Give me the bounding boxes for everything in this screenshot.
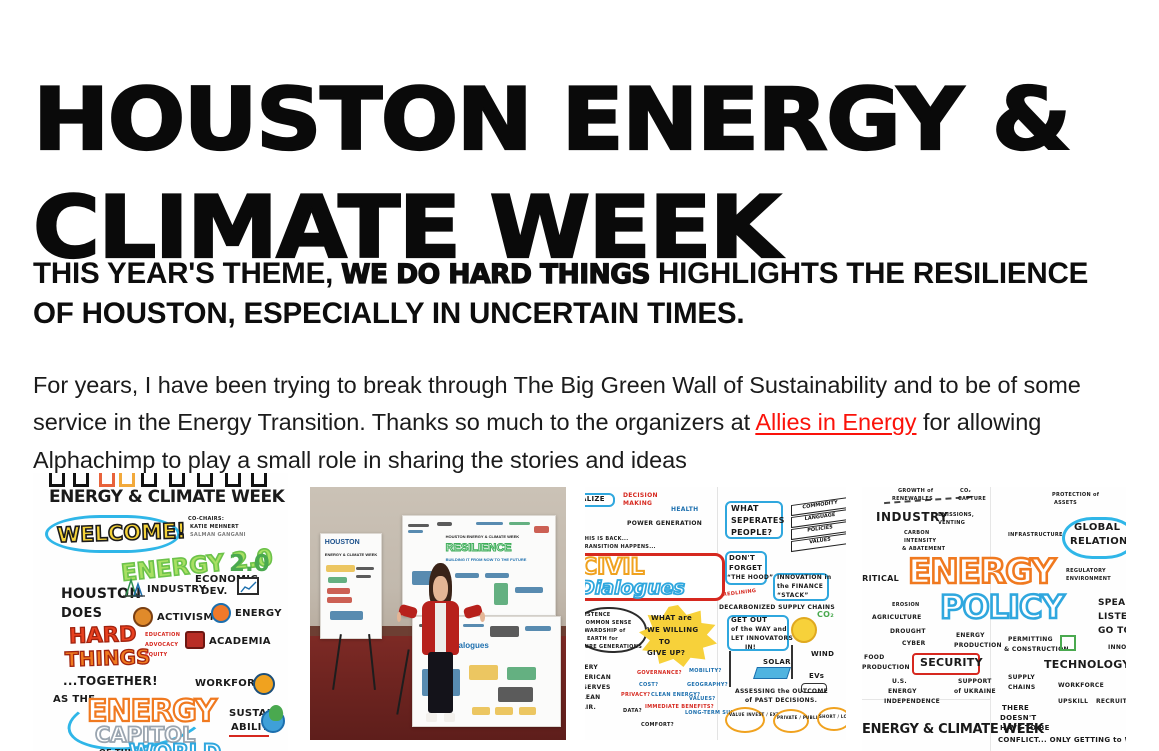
- sketch-text-getout-2: of the WAY and: [731, 627, 787, 633]
- sketch-text-cyber: CYBER: [902, 641, 926, 647]
- sketch-text-technology: TECHNOLOGY: [1044, 659, 1126, 670]
- sketch-text-innovation-3: “STACK”: [777, 593, 809, 599]
- sketch-text-existence-5: FUTURE GENERATIONS: [585, 645, 642, 650]
- photo-board-left-sub: ENERGY & CLIMATE WEEK: [325, 552, 378, 557]
- sketch-text-o3: SHORT / LONG-TERM: [819, 715, 846, 719]
- photo-board-2-sub: BUILDING IT FROM NOW TO THE FUTURE: [446, 557, 527, 562]
- sketch-text-security: SECURITY: [920, 657, 983, 668]
- sketch-text-2-0: 2.0: [229, 553, 270, 576]
- sun-icon: [791, 617, 817, 643]
- sketch-text-protection-1: PROTECTION of: [1052, 493, 1099, 498]
- sketch-text-air-4: CLEAN: [585, 695, 601, 701]
- energy-flame-icon: [211, 603, 231, 623]
- sketch-text-existence-1: EXISTENCE: [585, 613, 611, 618]
- sketch-text-recruit: RECRUIT: [1096, 699, 1126, 705]
- sketch-text-air-1: EVERY: [585, 665, 598, 671]
- sketch-text-food-1: FOOD: [864, 655, 884, 661]
- sketch-text-academia: ACADEMIA: [209, 637, 271, 647]
- sketch-text-does: DOES: [61, 607, 102, 620]
- sketch-text-supply-2: CHAINS: [1008, 685, 1035, 691]
- sketch-text-dont-forget-3: “THE HOOD”: [727, 575, 773, 581]
- sketch-text-energy-label: ENERGY: [235, 609, 282, 619]
- sketch-text-hard: HARD: [69, 624, 137, 647]
- sketch-text-assessing-2: of PAST DECISIONS.: [745, 698, 817, 704]
- sketch-text-air-5: AIR.: [585, 705, 596, 711]
- tree-icon: [269, 705, 283, 721]
- sketch-text-activism: ACTIVISM: [157, 613, 214, 623]
- sketch-text-world: WORLD: [129, 743, 221, 751]
- sketch-text-energy-prod-2: PRODUCTION: [954, 643, 1002, 649]
- sketch-text-things: THINGS: [65, 647, 151, 670]
- sketch-text-separates-2: SEPERATES: [731, 517, 785, 525]
- workforce-helmet-icon: [253, 673, 275, 695]
- subheading-emphasis: WE DO HARD THINGS: [341, 259, 650, 290]
- sketch-text-w5: DATA?: [623, 709, 642, 714]
- oil-derrick-icon: [729, 651, 731, 687]
- sketch-text-industry: INDUSTRY: [147, 585, 206, 595]
- sketch-note-transition: THIS IS BACK...: [585, 537, 628, 542]
- subheading: THIS YEAR'S THEME, WE DO HARD THINGS HIG…: [33, 254, 1112, 333]
- sketch-text-global-1: GLOBAL: [1074, 523, 1120, 533]
- sketch-text-header: ENERGY & CLIMATE WEEK: [49, 489, 284, 506]
- sketch-text-getout-1: GET OUT: [731, 617, 767, 624]
- oil-rig-icon: [123, 577, 145, 597]
- chip-icon: [1060, 635, 1076, 651]
- sketch-text-existence-2: IN COMMON SENSE: [585, 621, 632, 626]
- solar-panel-icon: [753, 667, 791, 679]
- sketch-text-policy: POLICY: [940, 591, 1064, 623]
- sketch-text-conflict-2: DOESN'T: [1000, 715, 1036, 722]
- photo-board-2-big: RESILIENCE: [446, 542, 512, 554]
- cropped-title-letters: [41, 473, 281, 487]
- sketch-text-willing-2: WE WILLING: [647, 627, 698, 634]
- sketch-text-getout-3: LET INNOVATORS: [731, 636, 793, 642]
- sketch-text-regulatory-1: REGULATORY: [1066, 569, 1106, 574]
- sketch-text-energy-prod-1: ENERGY: [956, 633, 985, 639]
- photo-person: [415, 563, 466, 722]
- page-title-line-1: HOUSTON ENERGY &: [33, 66, 1159, 174]
- sketch-text-sub-2: ADVOCACY: [145, 643, 178, 648]
- sketch-text-getout-4: IN!: [745, 645, 756, 651]
- wind-turbine-icon: [791, 645, 793, 679]
- sketch-text-w3: PRIVACY?: [621, 693, 650, 698]
- sketch-text-innovation-2: the FINANCE: [777, 584, 823, 590]
- sketch-text-agriculture: AGRICULTURE: [872, 615, 922, 621]
- body-paragraph: For years, I have been trying to break t…: [33, 367, 1125, 480]
- photo-person-face: [433, 576, 447, 602]
- sketch-text-cochair-1: KATIE MEHNERT: [190, 525, 239, 530]
- activism-fist-icon: [133, 607, 153, 627]
- sketch-text-cochairs-title: CO-CHAIRS:: [188, 517, 224, 522]
- sketch-text-speak-1: SPEAK: [1098, 599, 1126, 608]
- sketch-text-energy: ENERGY: [908, 555, 1055, 589]
- sketch-text-w1: GOVERNANCE?: [637, 671, 682, 676]
- gallery-image-civil-dialogues[interactable]: ALIZE DECISION MAKING HEALTH POWER GENER…: [585, 487, 846, 740]
- page-title: HOUSTON ENERGY & CLIMATE WEEK: [33, 66, 1159, 282]
- sketch-text-conflict-3: HAVE TO BE: [1000, 725, 1050, 732]
- sketch-text-supply-1: SUPPLY: [1008, 675, 1035, 681]
- sketch-text-air-3: DESERVES: [585, 685, 611, 691]
- sketch-text-air-2: AMERICAN: [585, 675, 611, 681]
- energy-policy-canvas: GROWTH of RENEWABLES CO₂ CAPTURE INDUSTR…: [862, 487, 1126, 751]
- sketch-text-conflict-4: CONFLICT... ONLY GETTING to W: [998, 737, 1126, 744]
- sketch-text-existence-3: STEWARDSHIP of: [585, 629, 625, 634]
- sketch-text-civil: CIVIL: [585, 557, 645, 579]
- sketch-text-decision-1: DECISION: [623, 493, 658, 499]
- academia-cap-icon: [185, 631, 205, 649]
- sketch-text-solar: SOLAR: [763, 659, 791, 666]
- sketch-text-power-gen: POWER GENERATION: [627, 521, 702, 527]
- sketch-text-workforce: WORKFORCE: [1058, 683, 1104, 689]
- photo-person-shoe-left: [426, 713, 437, 723]
- sketch-text-global-2: RELATIONS: [1070, 537, 1126, 547]
- sketch-text-co2: CO₂: [817, 611, 834, 619]
- sketch-text-assessing-1: ASSESSING the OUTCOME: [735, 689, 828, 695]
- photo-person-shirt: [435, 603, 446, 652]
- sketch-text-protection-2: ASSETS: [1054, 501, 1077, 506]
- sketch-text-existence-4: THE EARTH for: [585, 637, 618, 642]
- sketch-text-willing-1: WHAT are: [651, 615, 692, 622]
- allies-in-energy-link[interactable]: Allies in Energy: [755, 409, 916, 435]
- sketch-text-drought: DROUGHT: [890, 629, 926, 635]
- gallery-image-energy-policy[interactable]: GROWTH of RENEWABLES CO₂ CAPTURE INDUSTR…: [862, 487, 1126, 751]
- photo-person-pants: [428, 652, 453, 713]
- sketch-text-dont-forget-1: DON'T: [729, 555, 755, 562]
- sketch-text-wind: WIND: [811, 651, 834, 658]
- sketch-text-us-energy-1: U.S.: [892, 679, 907, 685]
- welcome-sketchnote-canvas: ENERGY & CLIMATE WEEK WELCOME! CO-CHAIRS…: [33, 473, 288, 751]
- sketch-text-infrastructure: INFRASTRUCTURE: [1008, 533, 1063, 538]
- gallery-image-artist-photo[interactable]: HOUSTON ENERGY & CLIMATE WEEK HOUSTON EN…: [310, 487, 566, 740]
- sketch-text-willing-4: GIVE UP?: [647, 650, 685, 657]
- sketch-text-dont-forget-2: FORGET: [729, 565, 762, 572]
- sketch-text-speak-3: GO TO: [1098, 627, 1126, 636]
- photo-person-hand-right: [480, 612, 485, 622]
- photo-person-hand-left: [397, 612, 402, 622]
- subheading-before: THIS YEAR'S THEME,: [33, 257, 333, 290]
- gallery-image-welcome-sketchnote[interactable]: ENERGY & CLIMATE WEEK WELCOME! CO-CHAIRS…: [33, 473, 288, 751]
- sketch-text-sub-3: EQUITY: [145, 653, 167, 658]
- sketch-text-emissions-2: VENTING: [938, 521, 965, 526]
- event-photo: HOUSTON ENERGY & CLIMATE WEEK HOUSTON EN…: [310, 487, 566, 740]
- sketch-text-separates-3: PEOPLE?: [731, 529, 772, 537]
- sketch-text-health: HEALTH: [671, 507, 699, 513]
- sketch-text-together: ...TOGETHER!: [63, 675, 158, 687]
- article-page: HOUSTON ENERGY & CLIMATE WEEK THIS YEAR'…: [0, 0, 1159, 751]
- sketch-text-support-1: SUPPORT: [958, 679, 992, 685]
- sketch-text-sub-1: EDUCATION: [145, 633, 180, 638]
- sketch-text-welcome: WELCOME!: [57, 521, 187, 546]
- sketch-text-w10: VALUES?: [689, 697, 716, 702]
- sketch-text-separates-1: WHAT: [731, 505, 759, 513]
- sketch-text-w9: GEOGRAPHY?: [687, 683, 728, 688]
- sketch-text-permitting-1: PERMITTING: [1008, 637, 1053, 643]
- sketch-text-evs: EVs: [809, 673, 824, 680]
- chart-icon: [237, 577, 259, 595]
- sketch-text-dialogues: Dialogues: [585, 579, 685, 598]
- sketch-text-innovation-1: INNOVATION in: [777, 575, 831, 581]
- sketch-text-w2: COST?: [639, 683, 658, 688]
- photo-board-left-title: HOUSTON: [325, 539, 360, 546]
- sketch-text-co2-capture-2: CAPTURE: [958, 497, 986, 502]
- sketch-text-growth-1: GROWTH of: [898, 489, 933, 494]
- sketch-text-w8: MOBILITY?: [689, 669, 722, 674]
- sketch-text-decision-2: MAKING: [623, 501, 652, 507]
- sketch-text-o2: PRIVATE / PUBLIC: [777, 716, 821, 720]
- sketch-text-growth-2: RENEWABLES: [892, 497, 933, 502]
- sketch-text-carbon-2: INTENSITY: [904, 539, 936, 544]
- sketch-text-econ-dev-2: DEV.: [201, 587, 228, 597]
- sketch-text-innov: INNOV: [1108, 645, 1126, 651]
- sketch-text-willing-3: TO: [659, 639, 670, 646]
- sketch-label-vis: ALIZE: [585, 496, 605, 503]
- civil-dialogues-canvas: ALIZE DECISION MAKING HEALTH POWER GENER…: [585, 487, 846, 740]
- sketch-note-transition-2: TRANSITION HAPPENS...: [585, 545, 656, 550]
- sketch-text-w7: COMFORT?: [641, 723, 674, 728]
- sketch-text-food-2: PRODUCTION: [862, 665, 910, 671]
- sketch-text-cochair-2: SALMAN GANGANI: [190, 533, 246, 538]
- sketch-text-erosion: EROSION: [892, 603, 920, 608]
- sketch-note-redline: REDLINING: [723, 589, 757, 598]
- sketch-text-conflict-1: THERE: [1002, 705, 1029, 712]
- sketch-text-carbon-1: CARBON: [904, 531, 929, 536]
- sketch-text-upskill: UPSKILL: [1058, 699, 1088, 705]
- sketch-text-emissions-1: EMISSIONS,: [938, 513, 974, 518]
- sketch-text-support-2: of UKRAINE: [954, 689, 996, 695]
- sketch-text-speak-2: LISTEN: [1098, 613, 1126, 622]
- sketch-text-regulatory-2: ENVIRONMENT: [1066, 577, 1111, 582]
- sketch-text-critical: CRITICAL: [862, 575, 899, 583]
- photo-person-shoe-right: [444, 713, 455, 723]
- commodity-stack-icon: COMMODITY LANGUAGE POLICIES VALUES: [791, 497, 846, 553]
- photo-board-left: HOUSTON ENERGY & CLIMATE WEEK: [320, 533, 381, 639]
- sketch-text-us-energy-2: ENERGY: [888, 689, 917, 695]
- sketch-text-us-energy-3: INDEPENDENCE: [884, 699, 940, 705]
- sketch-text-co2-capture-1: CO₂: [960, 489, 971, 494]
- photo-board-2-title: HOUSTON ENERGY & CLIMATE WEEK: [446, 534, 520, 539]
